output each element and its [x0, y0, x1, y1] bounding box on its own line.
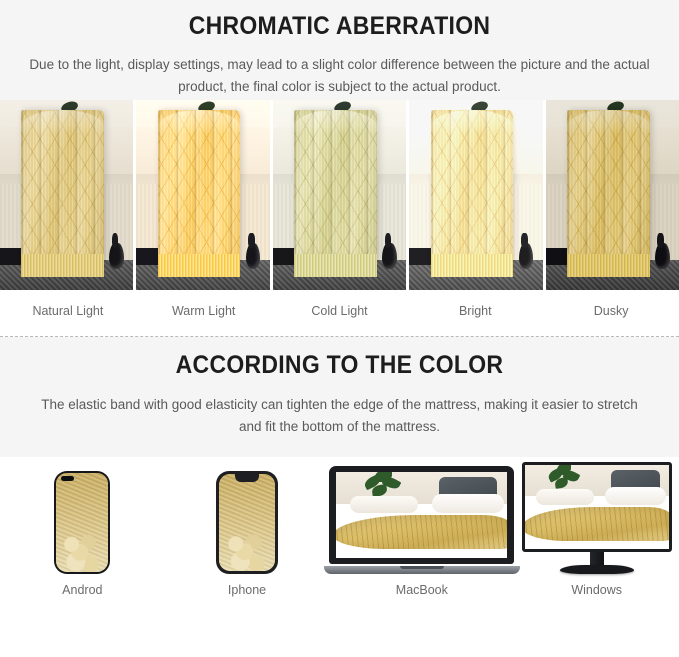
lighting-photo-cold-light [273, 100, 406, 290]
device-mockup-iphone: Iphone [165, 471, 330, 597]
chromatic-aberration-section: CHROMATIC ABERRATION Due to the light, d… [0, 0, 679, 100]
device-label-iphone: Iphone [228, 583, 266, 597]
macbook-frame [329, 466, 514, 574]
monitor-frame [522, 462, 672, 574]
monitor-stand-base [560, 565, 634, 574]
iphone-screen [219, 474, 275, 571]
lighting-photo-dusky [546, 100, 679, 290]
device-mockup-windows: Windows [514, 471, 679, 597]
lighting-label-row: Natural Light Warm Light Cold Light Brig… [0, 290, 679, 318]
lighting-label-bright: Bright [407, 290, 543, 318]
iphone-notch-icon [235, 474, 259, 482]
monitor-neck [590, 552, 604, 566]
lighting-photo-warm-light [136, 100, 269, 290]
android-screen [56, 473, 108, 572]
lighting-label-cold-light: Cold Light [272, 290, 408, 318]
device-label-windows: Windows [571, 583, 622, 597]
chromatic-subtitle: Due to the light, display settings, may … [20, 54, 660, 98]
device-label-macbook: MacBook [396, 583, 448, 597]
lighting-label-dusky: Dusky [543, 290, 679, 318]
macbook-screen [336, 472, 507, 558]
color-subtitle: The elastic band with good elasticity ca… [30, 394, 650, 438]
chromatic-title: CHROMATIC ABERRATION [27, 12, 652, 41]
iphone-frame [216, 471, 278, 574]
monitor-screen [525, 465, 669, 549]
lighting-photo-bright [409, 100, 542, 290]
color-title: ACCORDING TO THE COLOR [27, 351, 652, 380]
device-label-android: Androd [62, 583, 102, 597]
lighting-label-natural-light: Natural Light [0, 290, 136, 318]
device-mockup-row: Androd Iphone [0, 457, 679, 597]
according-to-color-section: ACCORDING TO THE COLOR The elastic band … [0, 337, 679, 457]
device-mockup-macbook: MacBook [329, 471, 514, 597]
lighting-label-warm-light: Warm Light [136, 290, 272, 318]
android-phone-frame [54, 471, 110, 574]
camera-punch-hole-icon [61, 476, 74, 481]
device-mockup-android: Androd [0, 471, 165, 597]
plant-icon [548, 465, 580, 492]
lighting-photo-row [0, 100, 679, 290]
macbook-base [324, 566, 520, 574]
lighting-photo-natural-light [0, 100, 133, 290]
